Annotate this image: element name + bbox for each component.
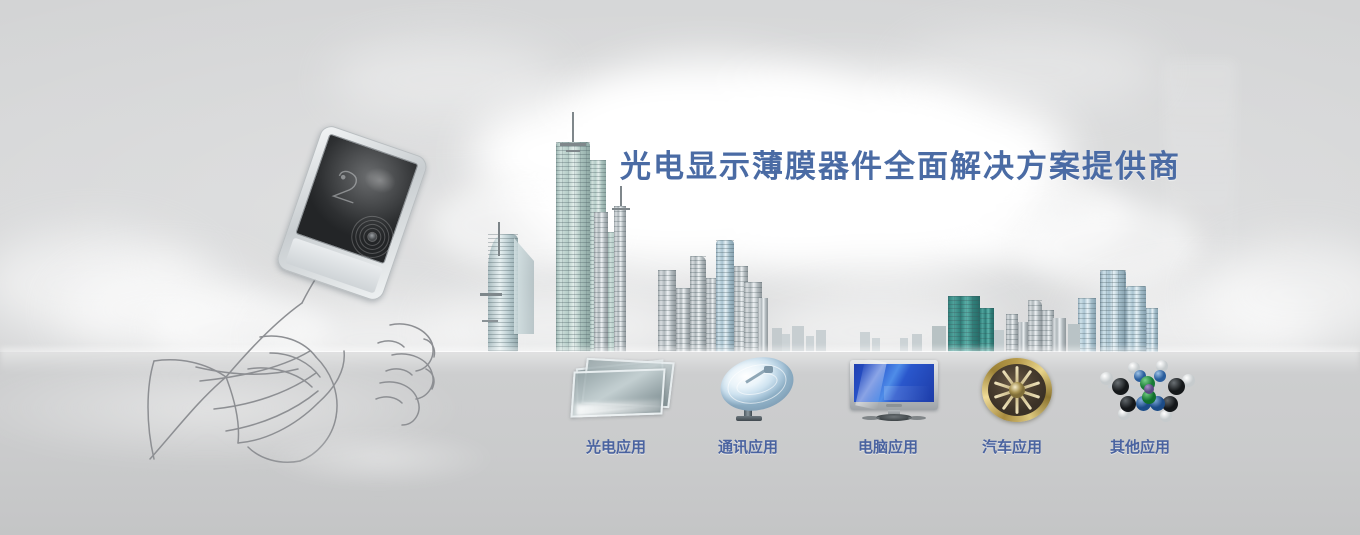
phone-screen-glyph (329, 165, 363, 202)
atom-carbon (1112, 378, 1129, 395)
app-icon-molecule-model[interactable] (1098, 356, 1194, 422)
app-label-computer[interactable]: 电脑应用 (858, 436, 918, 457)
monitor-screen (854, 364, 934, 402)
hand-ground-reflection (230, 430, 560, 500)
app-icon-alloy-wheel[interactable] (982, 358, 1054, 424)
app-icon-computer-monitor[interactable] (850, 360, 942, 422)
app-label-communication[interactable]: 通讯应用 (718, 436, 778, 457)
hero-banner: 光电显示薄膜器件全面解决方案提供商 (0, 0, 1360, 535)
page-title: 光电显示薄膜器件全面解决方案提供商 (620, 141, 1181, 186)
sail-tower-building (474, 234, 536, 352)
green-glass-building (948, 296, 980, 352)
app-label-automotive[interactable]: 汽车应用 (982, 436, 1042, 457)
app-label-optoelectronic[interactable]: 光电应用 (586, 436, 646, 457)
app-icon-satellite-dish[interactable] (714, 356, 804, 422)
app-label-other[interactable]: 其他应用 (1110, 436, 1170, 457)
blue-glass-tower (1100, 270, 1126, 352)
tall-glass-tower (556, 142, 590, 352)
atom-hydrogen (1100, 372, 1113, 385)
app-icon-glass-film-panels[interactable] (566, 358, 682, 420)
dish-reflector (715, 350, 799, 418)
